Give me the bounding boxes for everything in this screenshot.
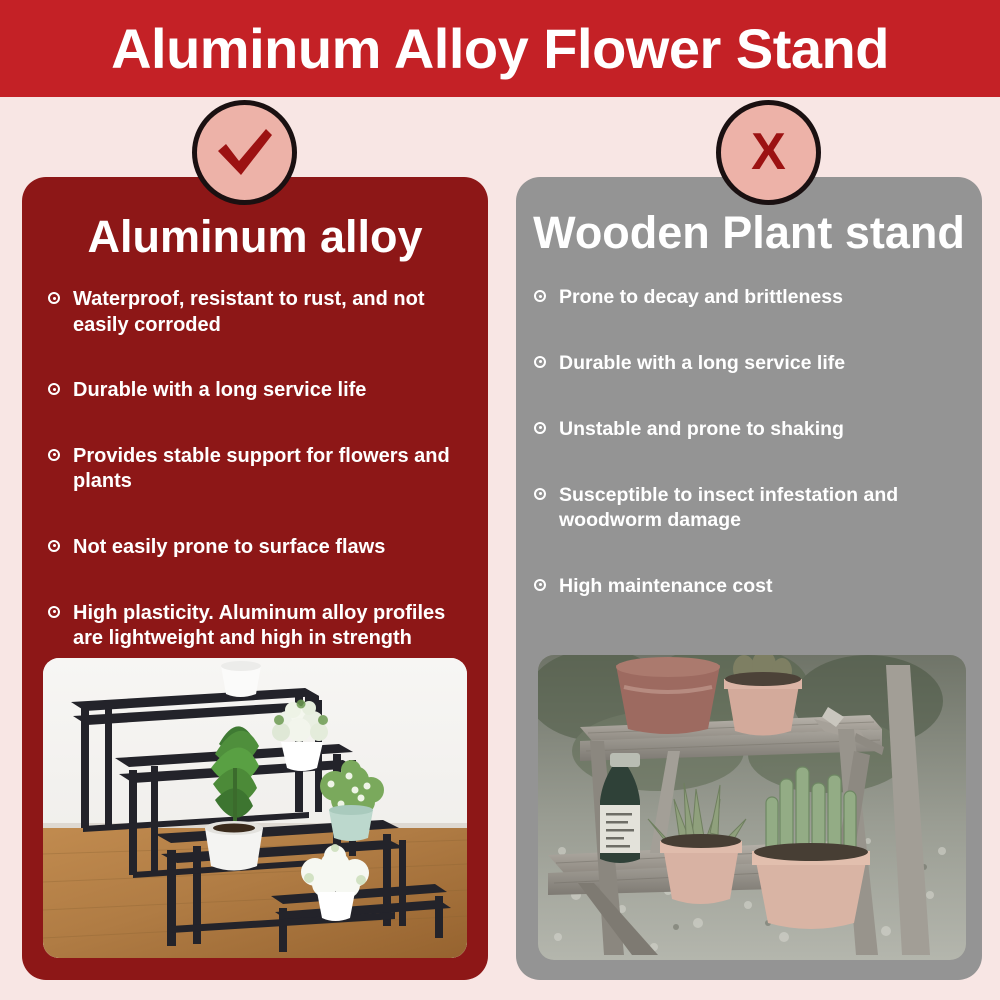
list-item: Unstable and prone to shaking [534,417,964,442]
check-icon [214,127,276,179]
list-item-label: Provides stable support for flowers and … [73,445,450,493]
list-item-label: Durable with a long service life [559,352,845,374]
check-badge [192,100,297,205]
panel-title-aluminum-alloy: Aluminum alloy [22,214,488,259]
list-item: Prone to decay and brittleness [534,285,964,310]
list-item-label: Unstable and prone to shaking [559,418,844,440]
bullet-marker-icon [48,449,60,461]
bullet-marker-icon [48,292,60,304]
list-item-label: High plasticity. Aluminum alloy profiles… [73,602,445,650]
bullet-marker-icon [534,356,546,368]
x-icon: X [751,126,786,178]
list-item: Provides stable support for flowers and … [48,444,462,495]
bullet-marker-icon [534,290,546,302]
bullet-marker-icon [48,383,60,395]
list-item-label: Waterproof, resistant to rust, and not e… [73,288,425,336]
bullet-list-wooden-plant-stand: Prone to decay and brittleness Durable w… [516,285,982,599]
list-item: Susceptible to insect infestation and wo… [534,483,964,533]
cross-badge: X [716,100,821,205]
aluminum-plant-stand-photo [43,658,467,958]
bullet-marker-icon [534,422,546,434]
list-item-label: High maintenance cost [559,575,772,597]
panel-title-wooden-plant-stand: Wooden Plant stand [516,210,982,255]
bullet-marker-icon [48,606,60,618]
bullet-marker-icon [534,579,546,591]
list-item: High maintenance cost [534,574,964,599]
page-header: Aluminum Alloy Flower Stand [0,0,1000,97]
list-item: High plasticity. Aluminum alloy profiles… [48,601,462,652]
bullet-list-aluminum-alloy: Waterproof, resistant to rust, and not e… [22,287,488,652]
list-item: Waterproof, resistant to rust, and not e… [48,287,462,338]
list-item: Not easily prone to surface flaws [48,535,462,561]
list-item-label: Not easily prone to surface flaws [73,536,385,558]
list-item-label: Prone to decay and brittleness [559,286,843,308]
page-title: Aluminum Alloy Flower Stand [111,21,889,77]
wooden-plant-stand-photo [538,655,966,960]
bullet-marker-icon [48,540,60,552]
bullet-marker-icon [534,488,546,500]
list-item: Durable with a long service life [48,378,462,404]
list-item-label: Durable with a long service life [73,379,366,401]
list-item-label: Susceptible to insect infestation and wo… [559,484,898,531]
list-item: Durable with a long service life [534,351,964,376]
